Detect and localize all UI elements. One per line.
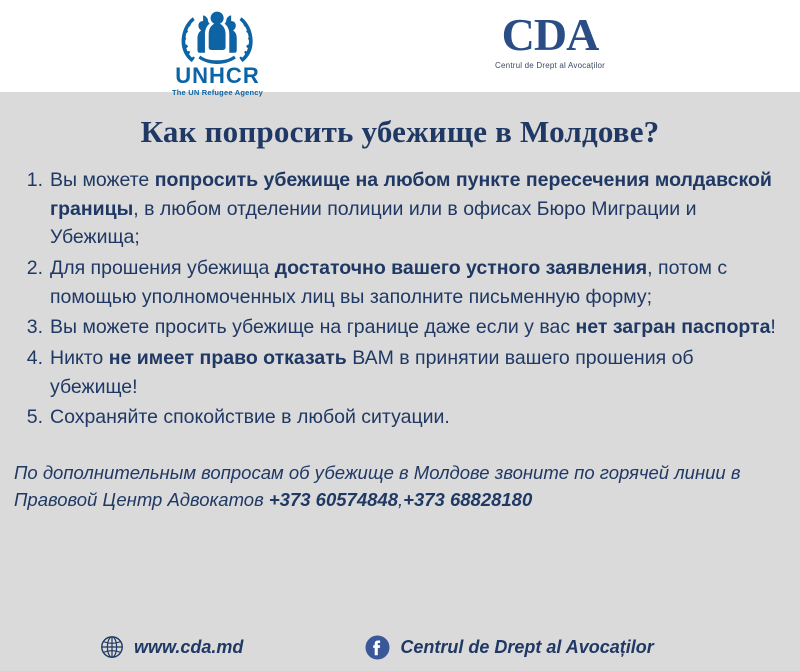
emphasis-text: +373 60574848 — [269, 489, 398, 510]
instruction-list: 1.Вы можете попросить убежище на любом п… — [0, 166, 800, 434]
cda-logo: CDA Centrul de Drept al Avocaților — [475, 12, 625, 70]
list-item-text: Вы можете просить убежище на границе даж… — [50, 313, 786, 342]
list-item-number: 5. — [16, 403, 50, 432]
list-item: 2.Для прошения убежища достаточно вашего… — [16, 254, 786, 311]
cda-tagline: Centrul de Drept al Avocaților — [475, 61, 625, 70]
website-contact[interactable]: www.cda.md — [100, 635, 243, 659]
emphasis-text: не имеет право отказать — [109, 347, 347, 369]
list-item-text: Вы можете попросить убежище на любом пун… — [50, 166, 786, 252]
emphasis-text: +373 68828180 — [403, 489, 532, 510]
unhcr-tagline: The UN Refugee Agency — [160, 88, 275, 97]
plain-text: Сохраняйте спокойствие в любой ситуации. — [50, 406, 450, 428]
facebook-icon — [365, 635, 390, 660]
list-item-number: 2. — [16, 254, 50, 283]
plain-text: ! — [770, 316, 775, 338]
unhcr-wordmark: UNHCR — [160, 65, 275, 87]
poster: UNHCR The UN Refugee Agency CDA Centrul … — [0, 0, 800, 671]
website-label: www.cda.md — [134, 637, 243, 658]
unhcr-emblem-icon — [161, 6, 273, 64]
hotline-note: По дополнительным вопросам об убежище в … — [0, 452, 800, 514]
plain-text: Вы можете — [50, 169, 155, 191]
list-item-number: 4. — [16, 344, 50, 373]
plain-text: Никто — [50, 347, 109, 369]
list-item-number: 3. — [16, 313, 50, 342]
emphasis-text: нет загран паспорта — [576, 316, 771, 338]
cda-wordmark: CDA — [475, 12, 625, 58]
header-logo-band: UNHCR The UN Refugee Agency CDA Centrul … — [0, 0, 800, 92]
unhcr-logo: UNHCR The UN Refugee Agency — [160, 6, 275, 97]
contact-bar: www.cda.md Centrul de Drept al Avocațilo… — [0, 627, 800, 667]
list-item: 3.Вы можете просить убежище на границе д… — [16, 313, 786, 342]
list-item: 5.Сохраняйте спокойствие в любой ситуаци… — [16, 403, 786, 432]
plain-text: , в любом отделении полиции или в офисах… — [50, 198, 696, 249]
emphasis-text: достаточно вашего устного заявления — [275, 257, 647, 279]
page-title: Как попросить убежище в Молдове? — [0, 114, 800, 150]
list-item-text: Для прошения убежища достаточно вашего у… — [50, 254, 786, 311]
list-item: 1.Вы можете попросить убежище на любом п… — [16, 166, 786, 252]
facebook-contact[interactable]: Centrul de Drept al Avocaților — [365, 635, 653, 660]
list-item-text: Сохраняйте спокойствие в любой ситуации. — [50, 403, 786, 432]
list-item-text: Никто не имеет право отказать ВАМ в прин… — [50, 344, 786, 401]
globe-icon — [100, 635, 124, 659]
plain-text: Вы можете просить убежище на границе даж… — [50, 316, 576, 338]
plain-text: Для прошения убежища — [50, 257, 275, 279]
list-item: 4.Никто не имеет право отказать ВАМ в пр… — [16, 344, 786, 401]
list-item-number: 1. — [16, 166, 50, 195]
facebook-label: Centrul de Drept al Avocaților — [400, 637, 653, 658]
